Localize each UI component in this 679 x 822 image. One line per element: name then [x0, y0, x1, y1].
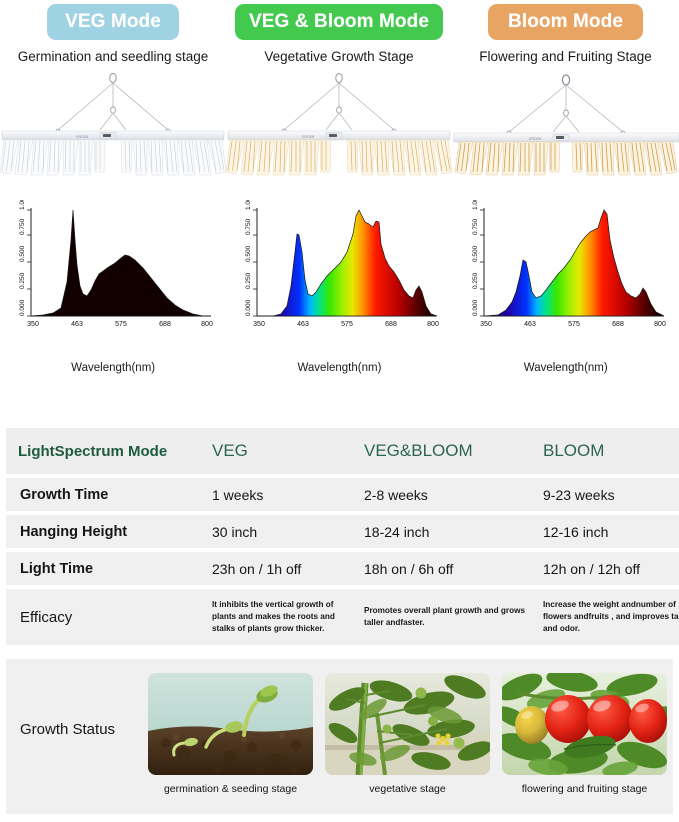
growth-status-photo-strip: germination & seeding stage	[148, 673, 668, 795]
cell-light-time-veg: 23h on / 1h off	[206, 552, 358, 585]
spectrum-chart-bloom: 0.000 0.250 0.500 0.750 1.000 350 463 57…	[453, 200, 679, 374]
cell-light-time-bloom: 12h on / 12h off	[537, 552, 679, 585]
svg-text:0.250: 0.250	[472, 272, 479, 289]
led-grow-light-panel-icon-veg: SPIDER	[0, 68, 226, 178]
growth-photo-caption-seedling: germination & seeding stage	[164, 783, 297, 795]
table-header-col-veg-bloom: VEG&BLOOM	[358, 428, 537, 474]
svg-text:688: 688	[386, 321, 398, 328]
growth-status-label: Growth Status	[20, 721, 115, 738]
mode-subtitle-veg: Germination and seedling stage	[18, 49, 209, 64]
svg-text:SPIDER: SPIDER	[76, 135, 89, 139]
mode-column-veg: VEG Mode Germination and seedling stage	[0, 4, 226, 64]
svg-text:0.000: 0.000	[19, 299, 26, 316]
table-header-label: LightSpectrum Mode	[6, 428, 206, 474]
svg-text:575: 575	[568, 321, 580, 328]
cell-light-time-veg-bloom: 18h on / 6h off	[358, 552, 537, 585]
spectrum-charts-row: 0.000 0.250 0.500 0.750 1.000 350 463 57…	[0, 200, 679, 374]
growth-photo-caption-fruiting: flowering and fruiting stage	[522, 783, 648, 795]
lamp-cell-veg-bloom: SPIDER	[226, 68, 452, 178]
svg-text:0.750: 0.750	[245, 218, 252, 235]
table-header-col-veg: VEG	[206, 428, 358, 474]
mode-badge-veg-bloom: VEG & Bloom Mode	[235, 4, 443, 40]
ripe-tomatoes-illustration	[502, 673, 667, 775]
svg-text:688: 688	[159, 321, 171, 328]
svg-text:350: 350	[480, 321, 492, 328]
growth-status-block: Growth Status	[6, 659, 673, 814]
lamp-cell-veg: SPIDER	[0, 68, 226, 178]
table-row: Growth Time 1 weeks 2-8 weeks 9-23 weeks	[6, 478, 679, 511]
svg-text:350: 350	[27, 321, 39, 328]
svg-text:800: 800	[428, 321, 440, 328]
svg-text:1.000: 1.000	[472, 200, 479, 210]
cell-efficacy-veg-bloom: Promotes overall plant growth and grows …	[358, 589, 537, 645]
cell-efficacy-veg: It inhibits the vertical growth of plant…	[206, 589, 358, 645]
svg-text:0.000: 0.000	[472, 299, 479, 316]
lamp-images-row: SPIDER	[0, 68, 679, 178]
svg-text:463: 463	[524, 321, 536, 328]
row-label-growth-time: Growth Time	[6, 478, 206, 511]
seedling-sprout-photo	[148, 673, 313, 775]
svg-text:575: 575	[115, 321, 127, 328]
cell-growth-time-veg: 1 weeks	[206, 478, 358, 511]
spectrum-chart-veg: 0.000 0.250 0.500 0.750 1.000 350 463 57…	[0, 200, 226, 374]
svg-text:800: 800	[654, 321, 666, 328]
growth-photo-item-vegetative: vegetative stage	[325, 673, 490, 795]
svg-text:0.250: 0.250	[19, 272, 26, 289]
growth-photo-item-fruiting: flowering and fruiting stage	[502, 673, 667, 795]
table-row: Light Time 23h on / 1h off 18h on / 6h o…	[6, 552, 679, 585]
row-label-efficacy: Efficacy	[6, 589, 206, 645]
table-header-row: LightSpectrum Mode VEG VEG&BLOOM BLOOM	[6, 428, 679, 474]
svg-text:350: 350	[254, 321, 266, 328]
spectrum-plot-bloom: 0.000 0.250 0.500 0.750 1.000 350 463 57…	[456, 200, 676, 340]
table-row: Efficacy It inhibits the vertical growth…	[6, 589, 679, 645]
light-spectrum-spec-table: LightSpectrum Mode VEG VEG&BLOOM BLOOM G…	[6, 428, 679, 645]
svg-text:463: 463	[298, 321, 310, 328]
svg-text:0.250: 0.250	[245, 272, 252, 289]
lamp-cell-bloom: SPIDER	[453, 68, 679, 178]
cell-hanging-height-bloom: 12-16 inch	[537, 515, 679, 548]
chart-caption-veg: Wavelength(nm)	[71, 362, 155, 374]
cell-efficacy-bloom: Increase the weight andnumber of flowers…	[537, 589, 679, 645]
svg-text:0.500: 0.500	[472, 245, 479, 262]
led-grow-light-panel-icon-veg-bloom: SPIDER	[226, 68, 452, 178]
mode-badge-veg: VEG Mode	[47, 4, 179, 40]
table-row: Hanging Height 30 inch 18-24 inch 12-16 …	[6, 515, 679, 548]
svg-text:0.500: 0.500	[245, 245, 252, 262]
svg-text:688: 688	[612, 321, 624, 328]
growth-photo-caption-vegetative: vegetative stage	[369, 783, 445, 795]
seedling-sprout-illustration	[148, 673, 313, 775]
mode-subtitle-veg-bloom: Vegetative Growth Stage	[264, 49, 413, 64]
mode-column-bloom: Bloom Mode Flowering and Fruiting Stage	[452, 4, 679, 64]
svg-text:0.750: 0.750	[19, 218, 26, 235]
svg-text:1.000: 1.000	[245, 200, 252, 210]
svg-text:800: 800	[201, 321, 213, 328]
chart-caption-bloom: Wavelength(nm)	[524, 362, 608, 374]
mode-column-veg-bloom: VEG & Bloom Mode Vegetative Growth Stage	[226, 4, 452, 64]
row-label-hanging-height: Hanging Height	[6, 515, 206, 548]
ripe-tomatoes-photo	[502, 673, 667, 775]
svg-text:SPIDER: SPIDER	[302, 135, 315, 139]
growth-photo-item-seedling: germination & seeding stage	[148, 673, 313, 795]
cell-hanging-height-veg-bloom: 18-24 inch	[358, 515, 537, 548]
cell-growth-time-bloom: 9-23 weeks	[537, 478, 679, 511]
mode-subtitle-bloom: Flowering and Fruiting Stage	[479, 49, 652, 64]
spectrum-chart-veg-bloom: 0.000 0.250 0.500 0.750 1.000 350 463 57…	[226, 200, 452, 374]
spectrum-plot-veg: 0.000 0.250 0.500 0.750 1.000 350 463 57…	[3, 200, 223, 340]
mode-header-row: VEG Mode Germination and seedling stage …	[0, 0, 679, 64]
svg-text:0.000: 0.000	[245, 299, 252, 316]
led-grow-light-panel-icon-bloom: SPIDER	[453, 68, 679, 178]
svg-text:575: 575	[342, 321, 354, 328]
row-label-light-time: Light Time	[6, 552, 206, 585]
svg-text:SPIDER: SPIDER	[529, 137, 542, 141]
table-header-col-bloom: BLOOM	[537, 428, 679, 474]
svg-text:0.750: 0.750	[472, 218, 479, 235]
svg-text:0.500: 0.500	[19, 245, 26, 262]
tomato-plant-foliage-photo	[325, 673, 490, 775]
mode-badge-bloom: Bloom Mode	[488, 4, 643, 40]
spectrum-plot-veg-bloom: 0.000 0.250 0.500 0.750 1.000 350 463 57…	[229, 200, 449, 340]
svg-text:463: 463	[71, 321, 83, 328]
chart-caption-veg-bloom: Wavelength(nm)	[297, 362, 381, 374]
cell-growth-time-veg-bloom: 2-8 weeks	[358, 478, 537, 511]
cell-hanging-height-veg: 30 inch	[206, 515, 358, 548]
tomato-plant-foliage-illustration	[325, 673, 490, 775]
svg-text:1.000: 1.000	[19, 200, 26, 210]
